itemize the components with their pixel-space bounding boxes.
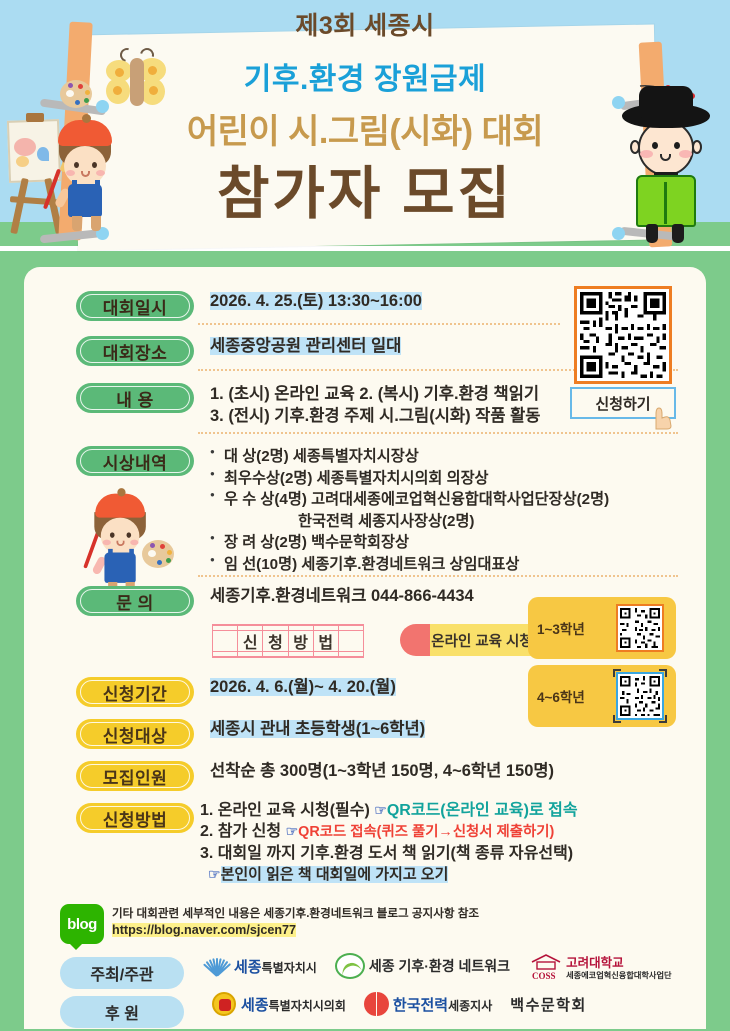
step-1: 1. 온라인 교육 시청(필수) ☞QR코드(온라인 교육)로 접속: [200, 800, 578, 821]
logo-kcen: 세종 기후·환경 네트워크: [335, 953, 510, 979]
qr-code-main[interactable]: [574, 286, 672, 384]
list-item: 최우수상(2명) 세종특별자치시의회 의장상: [210, 468, 609, 490]
step-2: 2. 참가 신청 ☞QR코드 접속(퀴즈 풀기→신청서 제출하기): [200, 821, 578, 842]
pretitle: 제3회 세종시: [295, 12, 434, 40]
value-apply-period: 2026. 4. 6.(월)~ 4. 20.(월): [194, 677, 396, 698]
sejong-council-logo-icon: [212, 992, 236, 1016]
row-inquiry: 문 의 세종기후.환경네트워크 044-866-4434: [76, 586, 474, 616]
logo-sejong-city: 세종특별자치시: [200, 952, 317, 980]
blog-url[interactable]: https://blog.naver.com/sjcen77: [112, 923, 296, 937]
awards-list: 대 상(2명) 세종특별자치시장상 최우수상(2명) 세종특별자치시의회 의장상…: [194, 446, 609, 575]
qr-card-grade-4-6[interactable]: 4~6학년: [528, 665, 676, 727]
value-event-place: 세종중앙공원 관리센터 일대: [194, 336, 401, 357]
pointing-hand-icon: ☞: [208, 866, 221, 882]
label-inquiry: 문 의: [76, 586, 194, 616]
logo-korea-univ: COSS 고려대학교 세종에코업혁신융합대학사업단: [528, 952, 671, 980]
row-apply-method: 신청방법: [76, 803, 194, 833]
step-3: 3. 대회일 까지 기후.환경 도서 책 읽기(책 종류 자유선택): [200, 843, 578, 864]
label-apply-method: 신청방법: [76, 803, 194, 833]
qr-code-grade-4-6[interactable]: [616, 672, 664, 720]
kepco-logo-icon: [364, 992, 390, 1016]
coss-logo-icon: COSS: [528, 952, 564, 980]
row-apply-target: 신청대상 세종시 관내 초등학생(1~6학년): [76, 719, 425, 749]
value-capacity: 선착순 총 300명(1~3학년 150명, 4~6학년 150명): [194, 761, 554, 782]
svg-text:COSS: COSS: [532, 971, 556, 980]
row-event-datetime: 대회일시 2026. 4. 25.(토) 13:30~16:00: [76, 291, 422, 321]
row-apply-period: 신청기간 2026. 4. 6.(월)~ 4. 20.(월): [76, 677, 396, 707]
qr-code-grade-1-3[interactable]: [616, 604, 664, 652]
pointing-hand-icon: ☞: [286, 823, 299, 839]
list-item: 대 상(2명) 세종특별자치시장상: [210, 446, 609, 468]
list-item: 우 수 상(4명) 고려대세종에코업혁신융합대학사업단장상(2명): [210, 489, 609, 511]
label-apply-target: 신청대상: [76, 719, 194, 749]
logo-baeksu: 백수문학회: [510, 994, 587, 1015]
blog-icon[interactable]: blog: [60, 904, 104, 944]
row-content: 내 용 1. (초시) 온라인 교육 2. (복시) 기후.환경 책읽기 3. …: [76, 383, 540, 428]
blog-note: 기타 대회관련 세부적인 내용은 세종기후.환경네트워크 블로그 공지사항 참조: [112, 905, 479, 921]
palette-icon: [142, 540, 174, 568]
value-event-datetime: 2026. 4. 25.(토) 13:30~16:00: [194, 291, 422, 312]
apply-method-heading: 신 청 방 법: [212, 624, 364, 658]
eraser-icon: [400, 624, 430, 656]
header-scene: 제3회 세종시 기후.환경 장원급제 어린이 시.그림(시화) 대회 참가자 모…: [0, 0, 730, 262]
label-awards: 시상내역: [76, 446, 194, 476]
label-capacity: 모집인원: [76, 761, 194, 791]
list-item: 한국전력 세종지사장상(2명): [210, 511, 609, 533]
sejong-city-logo-icon: [200, 952, 230, 980]
poster-root: 제3회 세종시 기후.환경 장원급제 어린이 시.그림(시화) 대회 참가자 모…: [0, 0, 730, 1031]
kcen-logo-icon: [335, 953, 365, 979]
value-content: 1. (초시) 온라인 교육 2. (복시) 기후.환경 책읽기 3. (전시)…: [194, 383, 540, 428]
divider: [198, 432, 678, 434]
list-item: 임 선(10명) 세종기후.환경네트워크 상임대표상: [210, 554, 609, 576]
title-line-2: 어린이 시.그림(시화) 대회: [187, 113, 543, 151]
list-item: 장 려 상(2명) 백수문학회장상: [210, 532, 609, 554]
host-logos: 세종특별자치시 세종 기후·환경 네트워크 COSS 고려대학교 세종에코업혁신…: [200, 952, 690, 980]
label-event-place: 대회장소: [76, 336, 194, 366]
label-apply-period: 신청기간: [76, 677, 194, 707]
page-title: 참가자 모집: [217, 162, 513, 226]
pencil-banner-label: 온라인 교육 시청: [430, 624, 534, 656]
divider: [198, 575, 678, 577]
girl-painter-icon: [86, 492, 156, 580]
subtitle: 기후.환경 장원급제: [244, 63, 486, 96]
label-content: 내 용: [76, 383, 194, 413]
label-event-datetime: 대회일시: [76, 291, 194, 321]
label-hosts: 주최/주관: [60, 957, 184, 989]
sponsor-logos: 세종특별자치시의회 한국전력세종지사 백수문학회: [212, 992, 605, 1016]
apply-method-steps: 1. 온라인 교육 시청(필수) ☞QR코드(온라인 교육)로 접속 2. 참가…: [200, 800, 578, 886]
value-inquiry: 세종기후.환경네트워크 044-866-4434: [194, 586, 474, 607]
pointing-hand-icon: ☞: [374, 802, 387, 818]
qr-card-grade-1-3[interactable]: 1~3학년: [528, 597, 676, 659]
pointing-hand-icon: [646, 400, 674, 430]
value-apply-target: 세종시 관내 초등학생(1~6학년): [194, 719, 425, 740]
logo-sejong-council: 세종특별자치시의회: [212, 992, 346, 1016]
row-capacity: 모집인원 선착순 총 300명(1~3학년 150명, 4~6학년 150명): [76, 761, 554, 791]
label-sponsors: 후 원: [60, 996, 184, 1028]
divider: [198, 323, 560, 325]
logo-kepco: 한국전력세종지사: [364, 992, 492, 1016]
row-event-place: 대회장소 세종중앙공원 관리센터 일대: [76, 336, 401, 366]
step-note: ☞본인이 읽은 책 대회일에 가지고 오기: [200, 864, 578, 885]
